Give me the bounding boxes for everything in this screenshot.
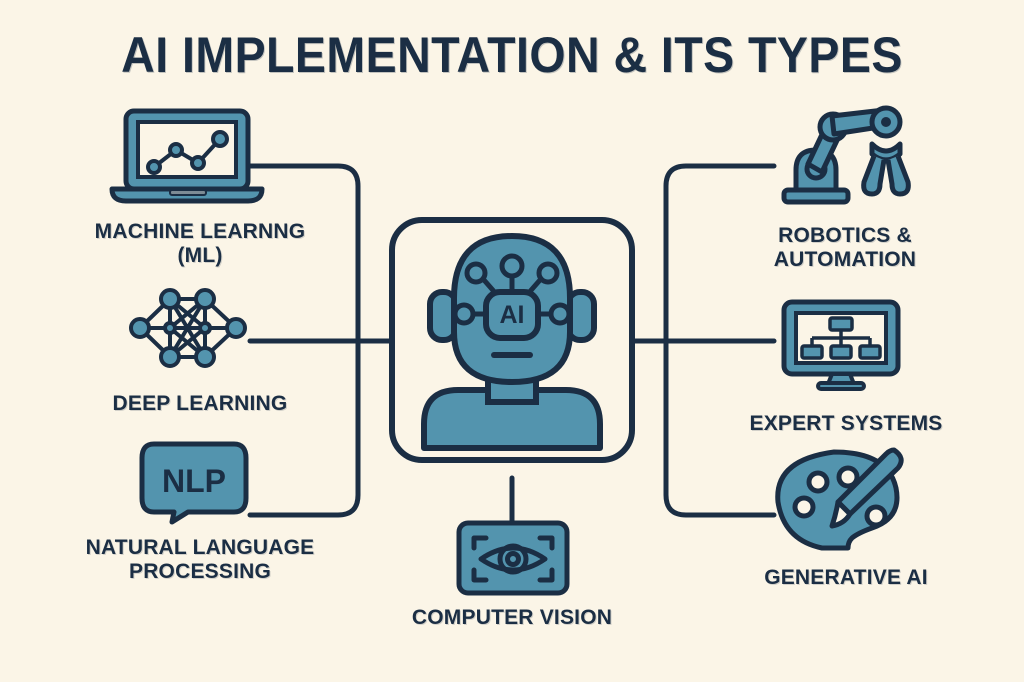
label-computer-vision-line1: COMPUTER VISION bbox=[342, 606, 682, 630]
ai-chip-label: AI bbox=[500, 301, 525, 329]
label-nlp-line2: PROCESSING bbox=[25, 560, 375, 584]
monitor-hierarchy-icon bbox=[780, 298, 902, 390]
node-machine-learning-icon[interactable] bbox=[104, 105, 276, 205]
infographic-canvas: AI IMPLEMENTATION & ITS TYPES bbox=[0, 0, 1024, 682]
paint-palette-icon bbox=[776, 444, 912, 550]
node-expert-systems-icon[interactable] bbox=[780, 298, 902, 390]
eye-scan-icon bbox=[456, 520, 570, 598]
node-computer-vision-icon[interactable] bbox=[456, 520, 570, 598]
label-robotics-line2: AUTOMATION bbox=[680, 248, 1010, 272]
ai-robot-head-icon: AI bbox=[388, 216, 636, 478]
label-machine-learning-line2: (ML) bbox=[25, 244, 375, 268]
neural-network-icon bbox=[118, 285, 262, 371]
label-expert-systems: EXPERT SYSTEMS bbox=[676, 412, 1016, 436]
label-generative-ai-line1: GENERATIVE AI bbox=[676, 566, 1016, 590]
label-natural-language-processing: NATURAL LANGUAGE PROCESSING bbox=[25, 536, 375, 583]
node-generative-ai-icon[interactable] bbox=[776, 444, 912, 550]
label-machine-learning: MACHINE LEARNNG (ML) bbox=[25, 220, 375, 267]
label-robotics-automation: ROBOTICS & AUTOMATION bbox=[680, 224, 1010, 271]
label-computer-vision: COMPUTER VISION bbox=[342, 606, 682, 630]
page-title: AI IMPLEMENTATION & ITS TYPES bbox=[36, 26, 988, 84]
label-generative-ai: GENERATIVE AI bbox=[676, 566, 1016, 590]
node-deep-learning-icon[interactable] bbox=[118, 285, 262, 371]
label-deep-learning-line1: DEEP LEARNING bbox=[30, 392, 370, 416]
node-nlp-icon[interactable]: NLP bbox=[138, 438, 250, 528]
label-nlp-line1: NATURAL LANGUAGE bbox=[25, 536, 375, 560]
nlp-speech-bubble-icon: NLP bbox=[138, 438, 250, 528]
robotic-arm-icon bbox=[770, 104, 916, 204]
laptop-line-chart-icon bbox=[104, 105, 276, 205]
center-node-ai-robot[interactable]: AI bbox=[388, 216, 636, 478]
label-deep-learning: DEEP LEARNING bbox=[30, 392, 370, 416]
nlp-bubble-label: NLP bbox=[162, 463, 226, 499]
label-robotics-line1: ROBOTICS & bbox=[680, 224, 1010, 248]
label-machine-learning-line1: MACHINE LEARNNG bbox=[25, 220, 375, 244]
node-robotics-icon[interactable] bbox=[770, 104, 916, 204]
label-expert-systems-line1: EXPERT SYSTEMS bbox=[676, 412, 1016, 436]
